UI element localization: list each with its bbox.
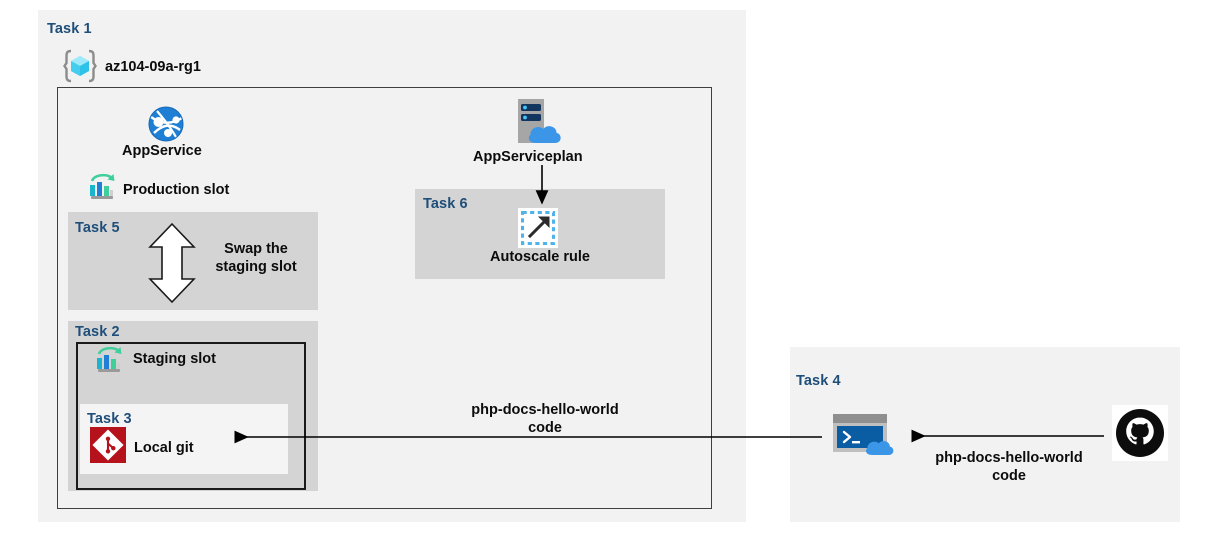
task2-label: Task 2 xyxy=(75,324,120,340)
github-to-cloud-shell-label: php-docs-hello-world code xyxy=(920,449,1098,485)
code-to-local-git-label: php-docs-hello-world code xyxy=(455,401,635,437)
task5-label: Task 5 xyxy=(75,220,120,236)
staging-slot-label: Staging slot xyxy=(133,350,216,368)
autoscale-rule-icon xyxy=(518,208,558,248)
resource-group-name: az104-09a-rg1 xyxy=(105,58,201,76)
local-git-label: Local git xyxy=(134,439,194,457)
deployment-slot-icon xyxy=(86,172,118,202)
swap-slot-label: Swap the staging slot xyxy=(202,240,310,276)
diagram-canvas: Task 1 az104-09a-rg1 AppService xyxy=(0,0,1218,545)
github-octocat-icon xyxy=(1112,405,1168,461)
task4-label: Task 4 xyxy=(796,373,841,389)
double-arrow-vertical-icon xyxy=(146,222,198,304)
task1-label: Task 1 xyxy=(47,21,92,37)
app-service-globe-icon xyxy=(145,103,187,145)
app-service-plan-icon xyxy=(512,97,572,149)
deployment-slot-icon xyxy=(93,345,125,375)
cloud-shell-icon xyxy=(832,412,904,458)
resource-group-cube-icon xyxy=(62,48,98,84)
app-service-plan-label: AppServiceplan xyxy=(473,148,583,166)
production-slot-label: Production slot xyxy=(123,181,229,199)
task3-label: Task 3 xyxy=(87,411,132,427)
autoscale-rule-label: Autoscale rule xyxy=(490,248,590,266)
task6-label: Task 6 xyxy=(423,196,468,212)
git-icon xyxy=(90,427,126,463)
app-service-label: AppService xyxy=(122,142,202,160)
